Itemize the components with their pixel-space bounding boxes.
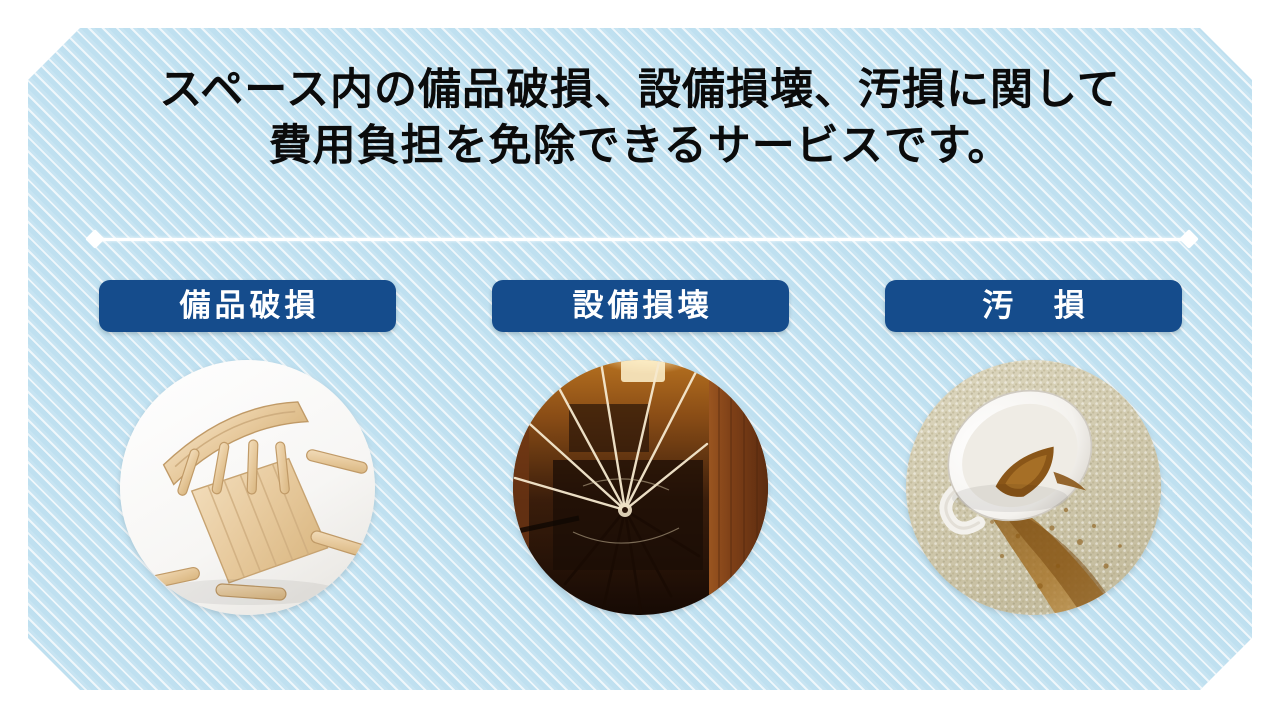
damage-category-list: 備品破損 [0,0,1280,720]
damage-category-item-3: 汚 損 [885,280,1182,332]
shattered-glass-door-photo [513,360,768,615]
category-badge-facility-destruction: 設備損壊 [492,280,789,332]
spilled-coffee-carpet-stain-photo [906,360,1161,615]
category-badge-equipment-damage: 備品破損 [99,280,396,332]
damage-category-item-1: 備品破損 [99,280,396,332]
category-badge-staining: 汚 損 [885,280,1182,332]
damage-category-item-2: 設備損壊 [492,280,789,332]
broken-wooden-chair-photo [120,360,375,615]
